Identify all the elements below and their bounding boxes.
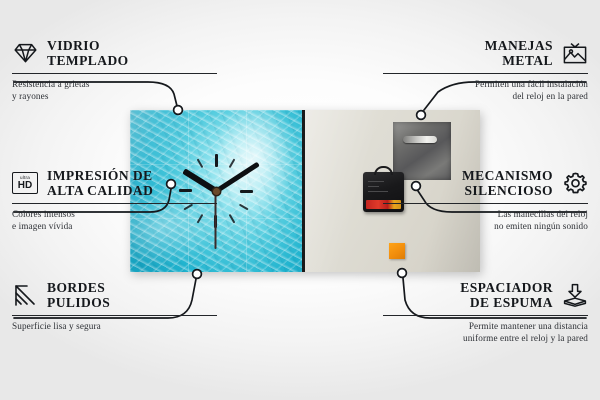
callout-mecanismo-silencioso: MECANISMO SILENCIOSO Las manecillas del … [383, 168, 588, 232]
polished-edges-icon [12, 283, 38, 307]
callout-rule [383, 73, 588, 74]
callout-subtitle: Colores intensos e imagen vívida [12, 208, 217, 232]
callout-header: MECANISMO SILENCIOSO [383, 168, 588, 199]
callout-title: BORDES PULIDOS [47, 280, 110, 311]
callout-title: MECANISMO SILENCIOSO [462, 168, 553, 199]
callout-title: VIDRIO TEMPLADO [47, 38, 129, 69]
gear-icon [562, 171, 588, 195]
callout-title: ESPACIADOR DE ESPUMA [460, 280, 553, 311]
callout-espaciador-espuma: ESPACIADOR DE ESPUMA Permite mantener un… [383, 280, 588, 344]
callout-subtitle: Permite mantener una distancia uniforme … [383, 320, 588, 344]
callout-subtitle: Superficie lisa y segura [12, 320, 217, 332]
foam-spacer-icon [562, 283, 588, 307]
callout-subtitle: Resistencia a grietas y rayones [12, 78, 217, 102]
callout-header: MANEJAS METAL [383, 38, 588, 69]
callout-subtitle: Las manecillas del reloj no emiten ningú… [383, 208, 588, 232]
callout-vidrio-templado: VIDRIO TEMPLADO Resistencia a grietas y … [12, 38, 217, 102]
callout-rule [12, 315, 217, 316]
callout-bordes-pulidos: BORDES PULIDOS Superficie lisa y segura [12, 280, 217, 332]
callout-header: VIDRIO TEMPLADO [12, 38, 217, 69]
callout-manejas-metal: MANEJAS METAL Permiten una fácil instala… [383, 38, 588, 102]
callout-rule [12, 73, 217, 74]
diamond-icon [12, 41, 38, 65]
callout-impresion-alta-calidad: ultra HD IMPRESIÓN DE ALTA CALIDAD Color… [12, 168, 217, 232]
infographic-stage: VIDRIO TEMPLADO Resistencia a grietas y … [0, 0, 600, 400]
picture-hanger-icon [562, 41, 588, 65]
callout-subtitle: Permiten una fácil instalación del reloj… [383, 78, 588, 102]
callout-header: ESPACIADOR DE ESPUMA [383, 280, 588, 311]
callout-title: IMPRESIÓN DE ALTA CALIDAD [47, 168, 153, 199]
callout-header: ultra HD IMPRESIÓN DE ALTA CALIDAD [12, 168, 217, 199]
callout-header: BORDES PULIDOS [12, 280, 217, 311]
hanger-slot [403, 136, 437, 143]
foam-spacer [389, 243, 405, 259]
callout-title: MANEJAS METAL [485, 38, 553, 69]
callout-rule [383, 315, 588, 316]
callout-rule [12, 203, 217, 204]
ultra-hd-icon: ultra HD [12, 171, 38, 195]
hd-badge-large: HD [18, 181, 32, 191]
callout-rule [383, 203, 588, 204]
